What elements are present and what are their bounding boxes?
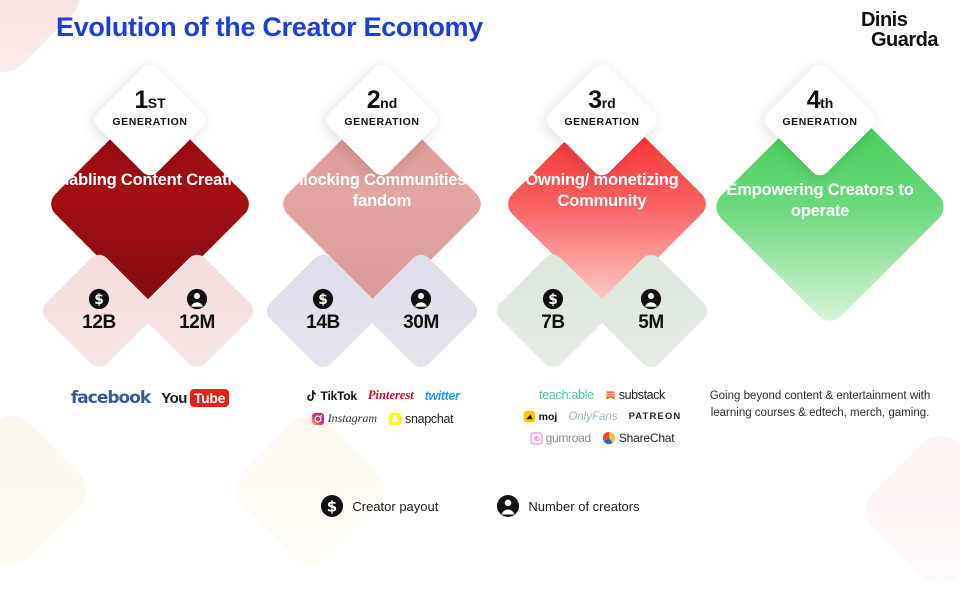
dollar-icon: $ bbox=[320, 494, 344, 518]
instagram-logo: Instagram bbox=[311, 411, 377, 426]
svg-text:$: $ bbox=[94, 292, 104, 308]
page-title: Evolution of the Creator Economy bbox=[56, 12, 483, 43]
person-icon bbox=[640, 288, 662, 310]
tiktok-note-icon bbox=[305, 389, 318, 402]
logo-line-1: Dinis bbox=[861, 10, 938, 30]
legend-label-creator-payout: Creator payout bbox=[352, 499, 438, 514]
sharechat-mark-icon bbox=[602, 431, 616, 445]
dollar-icon: $ bbox=[88, 288, 110, 310]
generation-column-3: 3rd GENERATION Owning/ monetizing Commun… bbox=[482, 0, 722, 540]
brand-logos-3: teach:able substack moj bbox=[482, 388, 722, 453]
gumroad-logo: gumroad bbox=[530, 431, 591, 445]
moj-mark-icon bbox=[523, 410, 536, 423]
svg-text:$: $ bbox=[318, 292, 328, 308]
brand-logos-2: TikTok Pinterest twitter Instagram bbox=[262, 388, 502, 434]
stat-payout-1: $ 12B bbox=[56, 268, 142, 354]
svg-text:$: $ bbox=[548, 292, 558, 308]
stat-payout-value-3: 7B bbox=[541, 312, 565, 334]
moj-label: moj bbox=[539, 411, 558, 423]
youtube-you-text: You bbox=[161, 390, 187, 407]
svg-text:$: $ bbox=[327, 498, 337, 516]
stat-creators-value-1: 12M bbox=[179, 312, 215, 334]
generation-stats-3: $ 7B 5M bbox=[482, 268, 722, 364]
snapchat-logo: snapchat bbox=[388, 412, 453, 426]
snapchat-ghost-icon bbox=[388, 412, 402, 426]
brand-logos-1: facebook You Tube bbox=[30, 388, 270, 416]
tiktok-label: TikTok bbox=[321, 389, 357, 403]
instagram-camera-icon bbox=[311, 412, 325, 426]
gumroad-label: gumroad bbox=[546, 431, 591, 445]
generation-column-4: 4th GENERATION Empowering Creators to op… bbox=[700, 0, 940, 540]
logo-line-2: Guarda bbox=[871, 30, 938, 50]
person-icon bbox=[410, 288, 432, 310]
brand-logo: Dinis Guarda bbox=[861, 10, 938, 50]
stat-creators-value-2: 30M bbox=[403, 312, 439, 334]
legend-item-number-of-creators: Number of creators bbox=[496, 494, 639, 518]
stat-creators-3: 5M bbox=[608, 268, 694, 354]
gumroad-mark-icon bbox=[530, 432, 543, 445]
snapchat-label: snapchat bbox=[405, 412, 453, 426]
tiktok-logo: TikTok bbox=[305, 389, 357, 403]
stat-payout-value-2: 14B bbox=[306, 312, 340, 334]
facebook-logo: facebook bbox=[71, 388, 150, 408]
onlyfans-logo: OnlyFans bbox=[568, 411, 617, 423]
generation-stats-2: $ 14B 30M bbox=[262, 268, 502, 364]
stat-payout-2: $ 14B bbox=[280, 268, 366, 354]
legend-item-creator-payout: $ Creator payout bbox=[320, 494, 438, 518]
substack-logo: substack bbox=[605, 388, 665, 402]
stat-payout-value-1: 12B bbox=[82, 312, 116, 334]
generation-column-1: 1ST GENERATION Enabling Content Creation… bbox=[30, 0, 270, 540]
infographic-canvas: Evolution of the Creator Economy Dinis G… bbox=[0, 0, 960, 540]
twitter-logo: twitter bbox=[425, 389, 460, 403]
substack-mark-icon bbox=[605, 390, 616, 401]
legend: $ Creator payout Number of creators bbox=[0, 494, 960, 518]
dollar-icon: $ bbox=[542, 288, 564, 310]
teachable-logo: teach:able bbox=[539, 388, 594, 402]
stat-creators-2: 30M bbox=[378, 268, 464, 354]
generation-stats-1: $ 12B 12M bbox=[30, 268, 270, 364]
generation-column-2: 2nd GENERATION Unlocking Communities & f… bbox=[262, 0, 502, 540]
stat-creators-value-3: 5M bbox=[638, 312, 664, 334]
stat-creators-1: 12M bbox=[154, 268, 240, 354]
sharechat-logo: ShareChat bbox=[602, 431, 675, 445]
patreon-logo: PATREON bbox=[629, 411, 682, 422]
legend-label-number-of-creators: Number of creators bbox=[528, 499, 639, 514]
substack-label: substack bbox=[619, 388, 665, 402]
stat-payout-3: $ 7B bbox=[510, 268, 596, 354]
youtube-tube-text: Tube bbox=[190, 389, 229, 407]
youtube-logo: You Tube bbox=[161, 389, 229, 407]
person-icon bbox=[186, 288, 208, 310]
pinterest-logo: Pinterest bbox=[368, 388, 414, 403]
generation-note-4: Going beyond content & entertainment wit… bbox=[700, 388, 940, 421]
instagram-label: Instagram bbox=[328, 411, 377, 426]
moj-logo: moj bbox=[523, 410, 558, 423]
dollar-icon: $ bbox=[312, 288, 334, 310]
person-icon bbox=[496, 494, 520, 518]
sharechat-label: ShareChat bbox=[619, 431, 675, 445]
